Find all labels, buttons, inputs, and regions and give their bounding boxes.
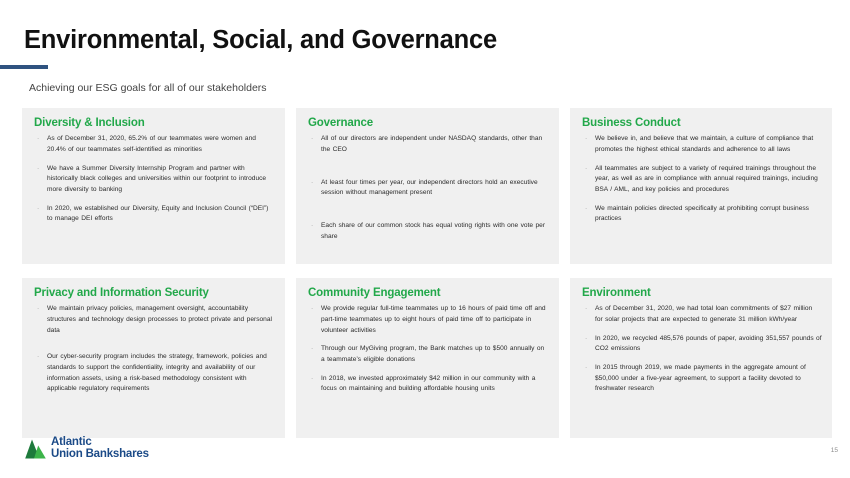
logo-wordmark: Atlantic Union Bankshares xyxy=(51,437,149,461)
list-item: ·We believe in, and believe that we main… xyxy=(582,134,822,155)
title-accent-rule xyxy=(0,65,48,69)
list-item: ·In 2020, we recycled 485,576 pounds of … xyxy=(582,334,822,355)
bullet-list: ·As of December 31, 2020, 65.2% of our t… xyxy=(34,134,275,225)
bullet-glyph: · xyxy=(311,304,313,315)
bullet-glyph: · xyxy=(585,334,587,345)
card-diversity-and-inclusion: Diversity & Inclusion ·As of December 31… xyxy=(22,108,285,264)
bullet-list: ·We maintain privacy policies, managemen… xyxy=(34,304,275,395)
company-logo: Atlantic Union Bankshares xyxy=(25,437,149,461)
list-item-text: As of December 31, 2020, we had total lo… xyxy=(595,305,812,323)
list-item: ·As of December 31, 2020, we had total l… xyxy=(582,304,822,325)
list-item-text: All teammates are subject to a variety o… xyxy=(595,165,818,193)
list-item: ·Through our MyGiving program, the Bank … xyxy=(308,344,549,365)
esg-card-grid: Diversity & Inclusion ·As of December 31… xyxy=(22,108,832,438)
list-item: ·In 2018, we invested approximately $42 … xyxy=(308,374,549,395)
bullet-glyph: · xyxy=(585,164,587,175)
bullet-glyph: · xyxy=(585,134,587,145)
list-item-text: In 2020, we recycled 485,576 pounds of p… xyxy=(595,335,822,353)
card-title: Governance xyxy=(308,117,549,130)
bullet-list: ·We provide regular full-time teammates … xyxy=(308,304,549,395)
list-item-text: Each share of our common stock has equal… xyxy=(321,222,545,240)
bullet-glyph: · xyxy=(37,304,39,315)
list-item: ·Each share of our common stock has equa… xyxy=(308,221,549,242)
list-item: ·We maintain policies directed specifica… xyxy=(582,204,822,225)
list-item: ·We maintain privacy policies, managemen… xyxy=(34,304,275,336)
list-item: ·Our cyber-security program includes the… xyxy=(34,352,275,395)
card-governance: Governance ·All of our directors are ind… xyxy=(296,108,559,264)
list-item-text: All of our directors are independent und… xyxy=(321,135,542,153)
bullet-glyph: · xyxy=(311,134,313,145)
card-title: Community Engagement xyxy=(308,287,549,300)
list-item-text: Our cyber-security program includes the … xyxy=(47,353,267,392)
list-item-text: We provide regular full-time teammates u… xyxy=(321,305,546,333)
bullet-list: ·As of December 31, 2020, we had total l… xyxy=(582,304,822,395)
list-item-text: At least four times per year, our indepe… xyxy=(321,179,538,197)
list-item-text: In 2018, we invested approximately $42 m… xyxy=(321,375,535,393)
list-item: ·At least four times per year, our indep… xyxy=(308,178,549,199)
card-title: Business Conduct xyxy=(582,117,822,130)
bullet-list: ·All of our directors are independent un… xyxy=(308,134,549,242)
bullet-glyph: · xyxy=(311,374,313,385)
list-item: ·We have a Summer Diversity Internship P… xyxy=(34,164,275,196)
card-title: Environment xyxy=(582,287,822,300)
list-item: ·As of December 31, 2020, 65.2% of our t… xyxy=(34,134,275,155)
mountain-triangle-icon xyxy=(25,438,46,460)
bullet-glyph: · xyxy=(37,134,39,145)
logo-line-1: Atlantic xyxy=(51,436,92,448)
page-number: 15 xyxy=(831,447,838,454)
bullet-glyph: · xyxy=(37,352,39,363)
bullet-glyph: · xyxy=(311,221,313,232)
list-item-text: In 2020, we established our Diversity, E… xyxy=(47,205,268,223)
card-environment: Environment ·As of December 31, 2020, we… xyxy=(570,278,832,438)
list-item: ·In 2015 through 2019, we made payments … xyxy=(582,363,822,395)
list-item: ·All of our directors are independent un… xyxy=(308,134,549,155)
bullet-glyph: · xyxy=(311,344,313,355)
bullet-glyph: · xyxy=(585,363,587,374)
logo-line-2: Union Bankshares xyxy=(51,448,149,460)
list-item: ·All teammates are subject to a variety … xyxy=(582,164,822,196)
list-item: ·We provide regular full-time teammates … xyxy=(308,304,549,336)
bullet-glyph: · xyxy=(37,204,39,215)
card-title: Diversity & Inclusion xyxy=(34,117,275,130)
list-item-text: We believe in, and believe that we maint… xyxy=(595,135,813,153)
list-item-text: We have a Summer Diversity Internship Pr… xyxy=(47,165,266,193)
card-community-engagement: Community Engagement ·We provide regular… xyxy=(296,278,559,438)
bullet-glyph: · xyxy=(311,178,313,189)
bullet-glyph: · xyxy=(585,204,587,215)
bullet-glyph: · xyxy=(37,164,39,175)
list-item-text: As of December 31, 2020, 65.2% of our te… xyxy=(47,135,256,153)
list-item-text: We maintain privacy policies, management… xyxy=(47,305,272,333)
list-item: ·In 2020, we established our Diversity, … xyxy=(34,204,275,225)
list-item-text: We maintain policies directed specifical… xyxy=(595,205,809,223)
card-privacy-and-information-security: Privacy and Information Security ·We mai… xyxy=(22,278,285,438)
page-title: Environmental, Social, and Governance xyxy=(24,26,497,55)
slide: Environmental, Social, and Governance Ac… xyxy=(0,0,850,478)
bullet-list: ·We believe in, and believe that we main… xyxy=(582,134,822,225)
bullet-glyph: · xyxy=(585,304,587,315)
list-item-text: In 2015 through 2019, we made payments i… xyxy=(595,364,806,392)
list-item-text: Through our MyGiving program, the Bank m… xyxy=(321,345,544,363)
page-subtitle: Achieving our ESG goals for all of our s… xyxy=(29,82,267,94)
card-title: Privacy and Information Security xyxy=(34,287,275,300)
card-business-conduct: Business Conduct ·We believe in, and bel… xyxy=(570,108,832,264)
